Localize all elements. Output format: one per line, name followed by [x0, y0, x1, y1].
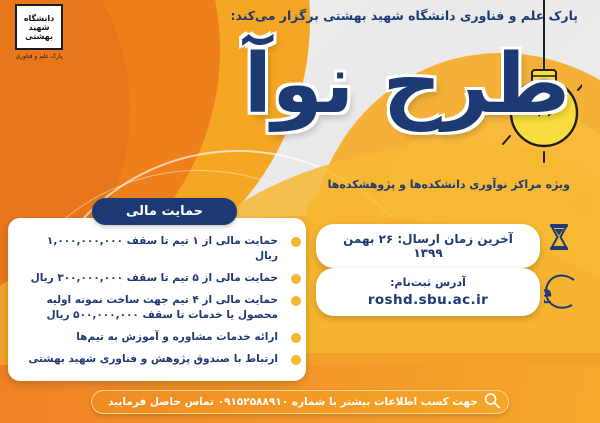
bullet-dot-icon: [291, 296, 301, 306]
financial-support-badge: حمایت مالی: [92, 198, 237, 225]
organizer-line: پارک علم و فناوری دانشگاه شهید بهشتی برگ…: [230, 8, 578, 23]
contact-text: جهت کسب اطلاعات بیشتر با شماره ۰۹۱۵۲۵۸۸۹…: [108, 396, 478, 408]
registration-pill[interactable]: آدرس ثبت‌نام: roshd.sbu.ac.ir: [316, 268, 540, 316]
list-item: حمایت مالی از ۱ تیم تا سقف ۱,۰۰۰,۰۰۰,۰۰۰…: [24, 234, 282, 264]
financial-support-card: حمایت مالی از ۱ تیم تا سقف ۱,۰۰۰,۰۰۰,۰۰۰…: [8, 218, 306, 381]
logo-emblem: دانشگاه شهید بهشتی: [15, 4, 63, 50]
deadline-pill: آخرین زمان ارسال: ۲۶ بهمن ۱۳۹۹: [316, 224, 540, 268]
svg-text:e: e: [544, 277, 552, 310]
list-item-text: ارائه خدمات مشاوره و آموزش به تیم‌ها: [76, 331, 278, 343]
university-logo: دانشگاه شهید بهشتی پارک علم و فناوری: [8, 4, 70, 60]
registration-url[interactable]: roshd.sbu.ac.ir: [328, 292, 528, 308]
decorative-dot-right: [570, 192, 596, 218]
decorative-dot-left: [307, 196, 335, 224]
search-icon: [484, 393, 500, 412]
financial-support-list: حمایت مالی از ۱ تیم تا سقف ۱,۰۰۰,۰۰۰,۰۰۰…: [24, 234, 282, 367]
page-subtitle: ویژه مراکز نوآوری دانشکده‌ها و پژوهشکده‌…: [328, 178, 570, 191]
bullet-dot-icon: [291, 237, 301, 247]
poster-root: دانشگاه شهید بهشتی پارک علم و فناوری پار…: [0, 0, 600, 423]
contact-footer: جهت کسب اطلاعات بیشتر با شماره ۰۹۱۵۲۵۸۸۹…: [91, 390, 509, 414]
list-item-text: حمایت مالی از ۵ تیم تا سقف ۳۰۰,۰۰۰,۰۰۰ ر…: [31, 272, 278, 284]
bullet-dot-icon: [291, 355, 301, 365]
list-item-text: ارتباط با صندوق پژوهش و فناوری شهید بهشت…: [28, 353, 278, 365]
logo-emblem-text: دانشگاه شهید بهشتی: [17, 14, 61, 41]
list-item-text: حمایت مالی از ۱ تیم تا سقف ۱,۰۰۰,۰۰۰,۰۰۰…: [47, 235, 278, 262]
logo-caption: پارک علم و فناوری: [8, 53, 70, 60]
hourglass-icon: [546, 222, 572, 256]
bullet-dot-icon: [291, 274, 301, 284]
deadline-text: آخرین زمان ارسال: ۲۶ بهمن ۱۳۹۹: [343, 232, 513, 260]
list-item: ارتباط با صندوق پژوهش و فناوری شهید بهشت…: [24, 352, 282, 367]
list-item: حمایت مالی از ۵ تیم تا سقف ۳۰۰,۰۰۰,۰۰۰ ر…: [24, 271, 282, 286]
list-item: حمایت مالی از ۴ تیم جهت ساخت نمونه اولیه…: [24, 293, 282, 323]
bullet-dot-icon: [291, 333, 301, 343]
list-item-text: حمایت مالی از ۴ تیم جهت ساخت نمونه اولیه…: [46, 294, 278, 321]
registration-label: آدرس ثبت‌نام:: [328, 276, 528, 289]
browser-e-icon: e: [544, 272, 578, 316]
list-item: ارائه خدمات مشاوره و آموزش به تیم‌ها: [24, 330, 282, 345]
page-title: طرح نوآ: [244, 44, 570, 126]
